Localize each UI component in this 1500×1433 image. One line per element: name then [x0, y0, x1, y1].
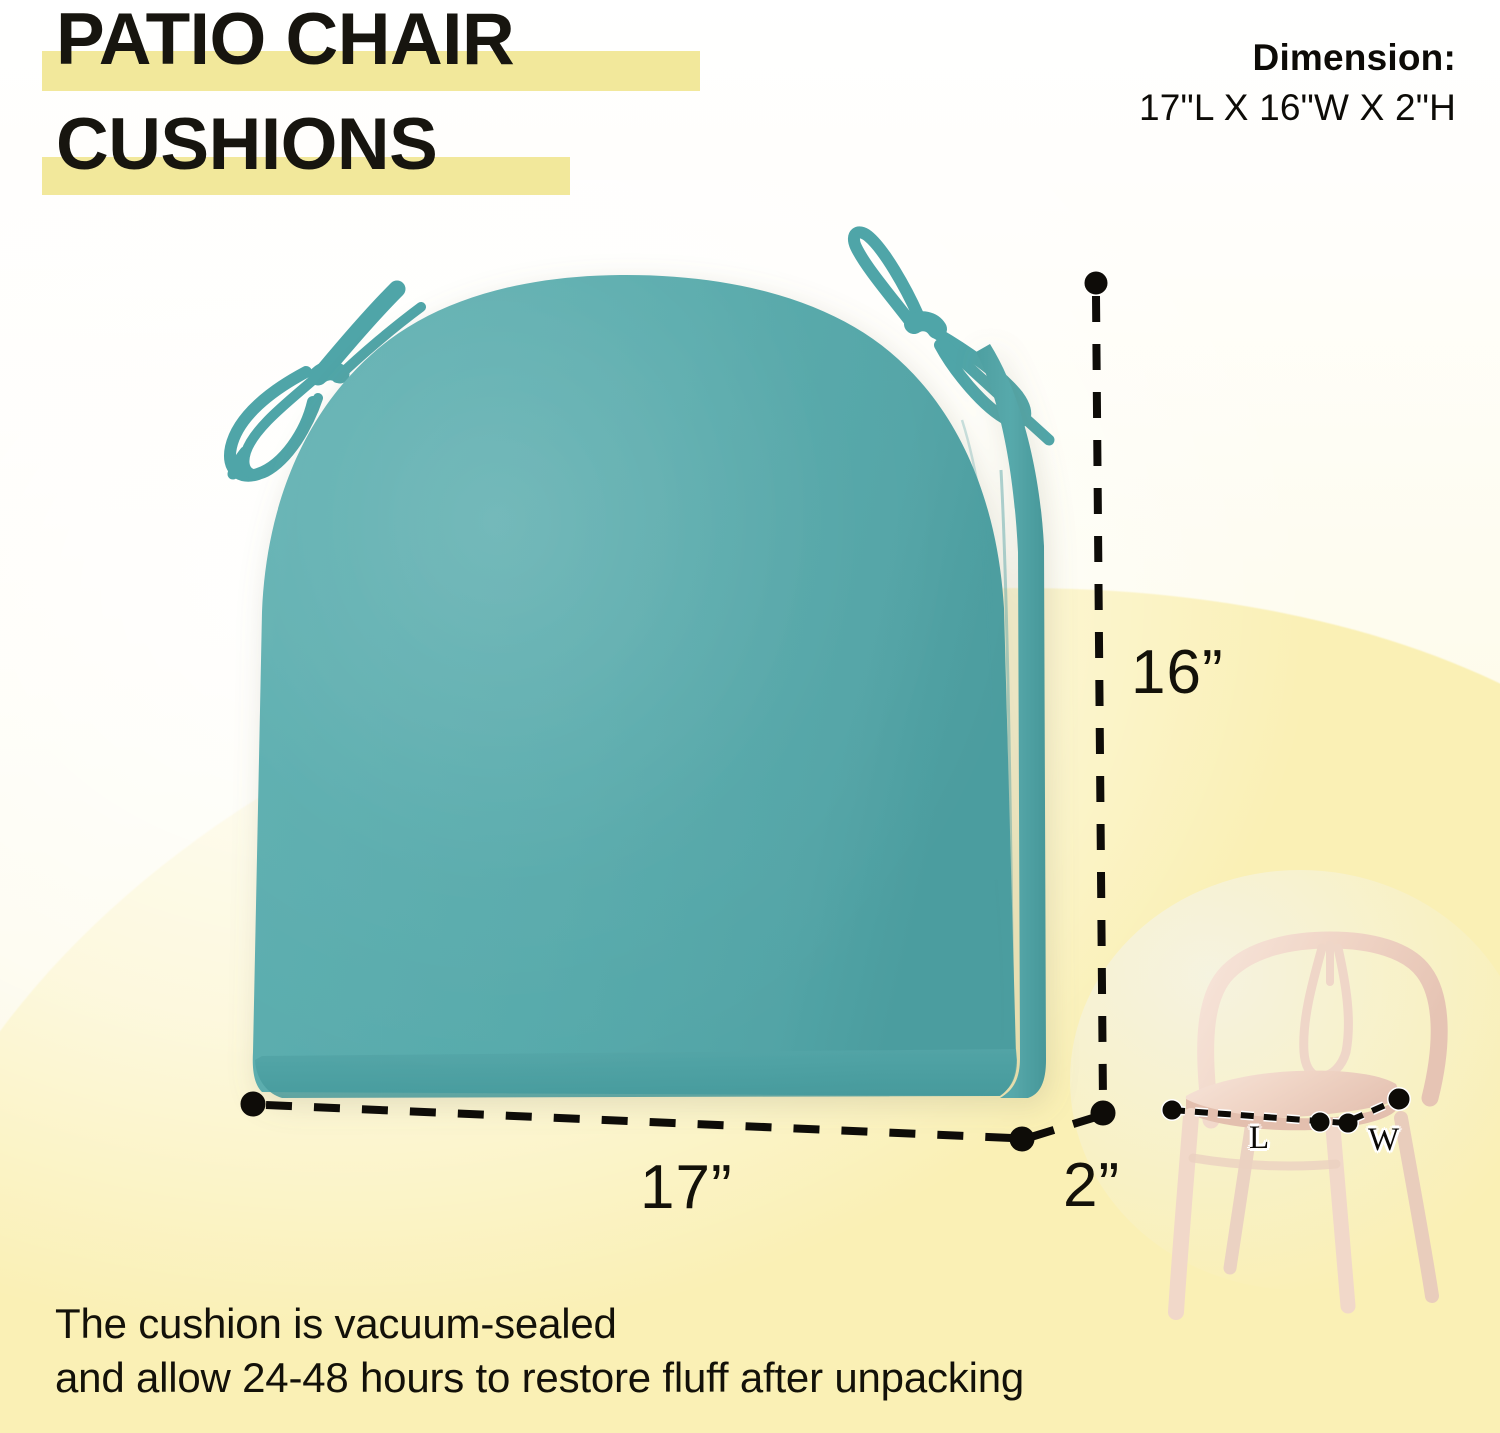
chair-label-width: W: [1368, 1122, 1399, 1159]
title-line-2: CUSHIONS: [56, 109, 514, 181]
chair-label-length: L: [1249, 1120, 1269, 1157]
dimension-header-value: 17"L X 16"W X 2"H: [1139, 84, 1456, 132]
product-infographic: PATIO CHAIR CUSHIONS Dimension: 17"L X 1…: [0, 0, 1500, 1433]
care-instruction-caption: The cushion is vacuum-sealed and allow 2…: [55, 1297, 1024, 1405]
measurement-label-height: 16”: [1131, 637, 1224, 708]
caption-line-2: and allow 24-48 hours to restore fluff a…: [55, 1351, 1024, 1405]
product-title: PATIO CHAIR CUSHIONS: [42, 4, 514, 180]
caption-line-1: The cushion is vacuum-sealed: [55, 1297, 1024, 1351]
measurement-label-length: 17”: [640, 1152, 733, 1223]
dimension-header: Dimension: 17"L X 16"W X 2"H: [1139, 36, 1456, 132]
measurement-label-depth: 2”: [1063, 1150, 1120, 1221]
title-line-1: PATIO CHAIR: [56, 4, 514, 76]
dimension-header-label: Dimension:: [1139, 36, 1456, 80]
